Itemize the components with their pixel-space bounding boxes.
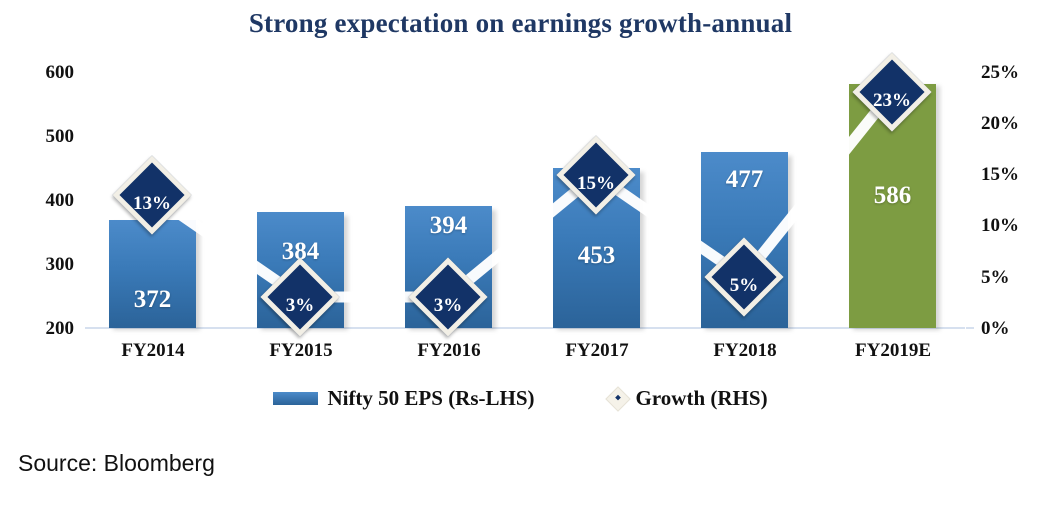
legend-diamond-marker-icon — [605, 386, 630, 411]
y-axis-right-tick-15pct: 15% — [981, 164, 1039, 186]
y-axis-right-tick-25pct: 25% — [981, 62, 1039, 84]
chart-container: Strong expectation on earnings growth-an… — [0, 0, 1041, 505]
chart-legend: Nifty 50 EPS (Rs-LHS) Growth (RHS) — [0, 386, 1041, 411]
y-axis-left-tick-500: 500 — [12, 126, 74, 148]
legend-item-growth[interactable]: Growth (RHS) — [609, 386, 768, 411]
legend-label-nifty-eps: Nifty 50 EPS (Rs-LHS) — [327, 386, 534, 411]
legend-item-nifty-eps[interactable]: Nifty 50 EPS (Rs-LHS) — [273, 386, 534, 411]
y-axis-right-tick-10pct: 10% — [981, 215, 1039, 237]
x-axis-label-fy2018: FY2018 — [699, 340, 791, 362]
x-axis-label-fy2019e: FY2019E — [845, 340, 941, 362]
tick-mark-0pct — [966, 327, 974, 329]
bar-fy2014[interactable]: 372 — [109, 220, 196, 328]
y-axis-left-tick-400: 400 — [12, 190, 74, 212]
bar-value-fy2018: 477 — [701, 166, 788, 194]
source-note: Source: Bloomberg — [18, 450, 215, 477]
y-axis-left-tick-300: 300 — [12, 254, 74, 276]
bar-value-fy2016: 394 — [405, 212, 492, 240]
legend-bar-swatch-icon — [273, 392, 318, 405]
bar-value-fy2017: 453 — [553, 242, 640, 270]
x-axis-label-fy2014: FY2014 — [107, 340, 199, 362]
y-axis-right-tick-5pct: 5% — [981, 267, 1039, 289]
y-axis-left-tick-200: 200 — [12, 318, 74, 340]
x-axis-label-fy2015: FY2015 — [255, 340, 347, 362]
x-axis-label-fy2016: FY2016 — [403, 340, 495, 362]
legend-label-growth: Growth (RHS) — [636, 386, 768, 411]
bar-value-fy2019e: 586 — [849, 182, 936, 210]
y-axis-right-tick-0pct: 0% — [981, 318, 1039, 340]
x-axis-label-fy2017: FY2017 — [551, 340, 643, 362]
chart-title: Strong expectation on earnings growth-an… — [0, 8, 1041, 39]
y-axis-left-tick-600: 600 — [12, 62, 74, 84]
bar-value-fy2014: 372 — [109, 286, 196, 314]
axis-baseline — [85, 327, 965, 329]
y-axis-right-tick-20pct: 20% — [981, 113, 1039, 135]
